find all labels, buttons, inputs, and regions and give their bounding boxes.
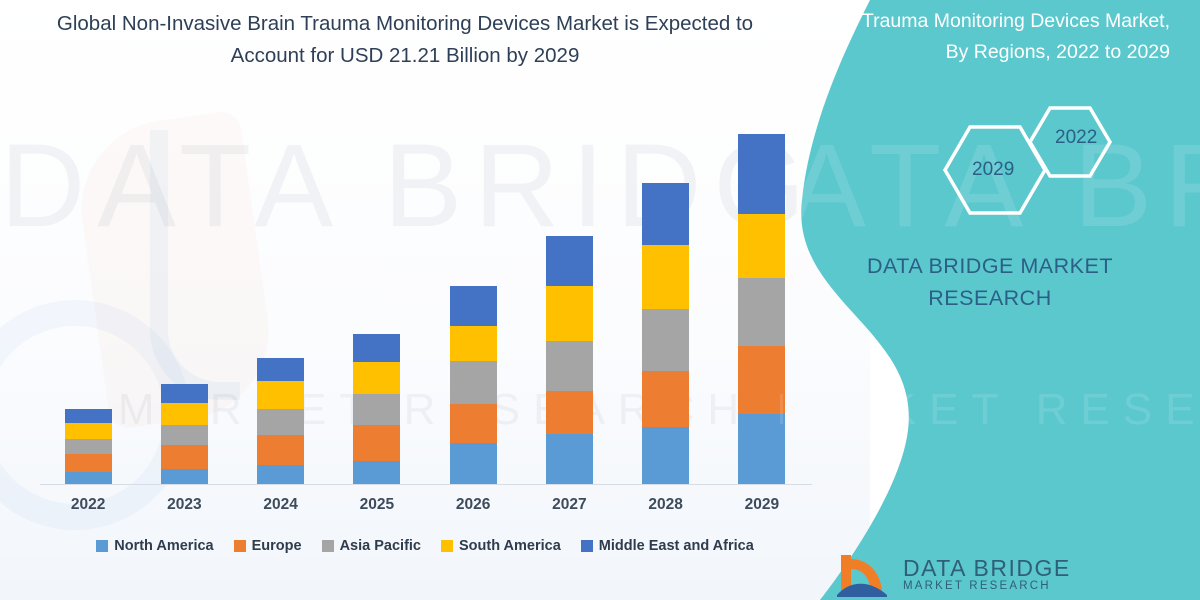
legend-item[interactable]: North America [96,538,213,554]
stacked-bar[interactable] [546,236,593,484]
x-axis-line [40,484,812,485]
bar-segment[interactable] [65,472,112,484]
legend-swatch-icon [322,540,334,552]
bar-column [139,384,229,484]
bar-segment[interactable] [353,461,400,484]
bar-segment[interactable] [642,183,689,245]
legend-label: North America [114,538,213,554]
company-logo: DATA BRIDGE MARKET RESEARCH [835,548,1135,600]
bar-segment[interactable] [353,394,400,425]
stacked-bar[interactable] [257,358,304,484]
hexagon-label-2029: 2029 [972,159,1014,181]
bar-segment[interactable] [450,443,497,484]
bar-segment[interactable] [546,286,593,341]
bar-segment[interactable] [642,309,689,371]
stacked-bar[interactable] [161,384,208,484]
panel-brand-line2: RESEARCH [780,282,1200,314]
legend-swatch-icon [96,540,108,552]
panel-brand: DATA BRIDGE MARKET RESEARCH [780,250,1200,314]
x-axis-label: 2023 [139,496,229,526]
legend-item[interactable]: Middle East and Africa [581,538,754,554]
x-axis-label: 2028 [621,496,711,526]
legend-swatch-icon [441,540,453,552]
bar-segment[interactable] [450,361,497,404]
x-axis-label: 2026 [428,496,518,526]
bar-segment[interactable] [257,409,304,435]
bar-segment[interactable] [257,465,304,484]
x-axis-label: 2024 [236,496,326,526]
bar-column [43,409,133,484]
logo-sub-text: MARKET RESEARCH [903,580,1071,592]
bar-segment[interactable] [65,409,112,423]
logo-main-text: DATA BRIDGE [903,556,1071,580]
bar-segment[interactable] [353,425,400,461]
bar-segment[interactable] [642,427,689,484]
stacked-bar[interactable] [642,183,689,484]
bar-segment[interactable] [161,469,208,484]
stacked-bar[interactable] [450,286,497,484]
hexagon-shapes [900,95,1190,225]
stacked-bar[interactable] [738,134,785,484]
hexagon-label-2022: 2022 [1055,127,1097,149]
bar-segment[interactable] [65,454,112,472]
x-axis-labels: 20222023202420252026202720282029 [40,496,810,526]
bar-segment[interactable] [450,404,497,443]
chart-title: Global Non-Invasive Brain Trauma Monitor… [40,8,770,72]
bar-segment[interactable] [161,384,208,403]
x-axis-label: 2025 [332,496,422,526]
bar-segment[interactable] [353,362,400,394]
bar-segment[interactable] [161,403,208,425]
panel-watermark-line2: MARKET RESEARCH [780,385,1200,435]
bar-column [524,236,614,484]
bar-segment[interactable] [546,434,593,484]
bar-segment[interactable] [65,439,112,454]
bar-segment[interactable] [161,445,208,469]
info-panel: DATA BRIDGE MARKET RESEARCH Trauma Monit… [780,0,1200,600]
stacked-bar[interactable] [353,334,400,484]
legend-item[interactable]: Europe [234,538,302,554]
legend-swatch-icon [581,540,593,552]
bar-segment[interactable] [738,134,785,214]
hexagon-group: 2022 2029 [900,95,1190,225]
x-axis-label: 2022 [43,496,133,526]
bar-segment[interactable] [450,286,497,326]
legend-item[interactable]: South America [441,538,561,554]
bar-segment[interactable] [642,371,689,427]
bar-segment[interactable] [546,341,593,391]
bar-segment[interactable] [257,381,304,409]
panel-title: Trauma Monitoring Devices Market, By Reg… [840,6,1170,68]
legend-label: Asia Pacific [340,538,421,554]
x-axis-label: 2027 [524,496,614,526]
bar-segment[interactable] [738,346,785,414]
bar-segment[interactable] [450,326,497,361]
bar-segment[interactable] [161,425,208,445]
chart-panel: DATA BRIDGE MARKET RESEARCH Global Non-I… [0,0,870,600]
bar-column [621,183,711,484]
chart-canvas: DATA BRIDGE MARKET RESEARCH Global Non-I… [0,0,1200,600]
legend-label: Middle East and Africa [599,538,754,554]
bar-segment[interactable] [353,334,400,362]
bar-segment[interactable] [738,414,785,484]
panel-brand-line1: DATA BRIDGE MARKET [780,250,1200,282]
legend-label: Europe [252,538,302,554]
bar-segment[interactable] [738,278,785,346]
legend-label: South America [459,538,561,554]
bar-column [428,286,518,484]
bar-segment[interactable] [546,236,593,286]
bar-segment[interactable] [257,358,304,381]
legend-item[interactable]: Asia Pacific [322,538,421,554]
bar-segment[interactable] [65,423,112,439]
bar-column [332,334,422,484]
bridge-logo-icon [835,551,893,597]
legend-swatch-icon [234,540,246,552]
stacked-bar[interactable] [65,409,112,484]
bar-segment[interactable] [642,245,689,309]
bar-segment[interactable] [738,214,785,278]
chart-legend: North AmericaEuropeAsia PacificSouth Ame… [40,538,810,554]
bar-segment[interactable] [546,391,593,434]
bar-column [236,358,326,484]
bar-segment[interactable] [257,435,304,465]
bar-group [40,100,810,484]
